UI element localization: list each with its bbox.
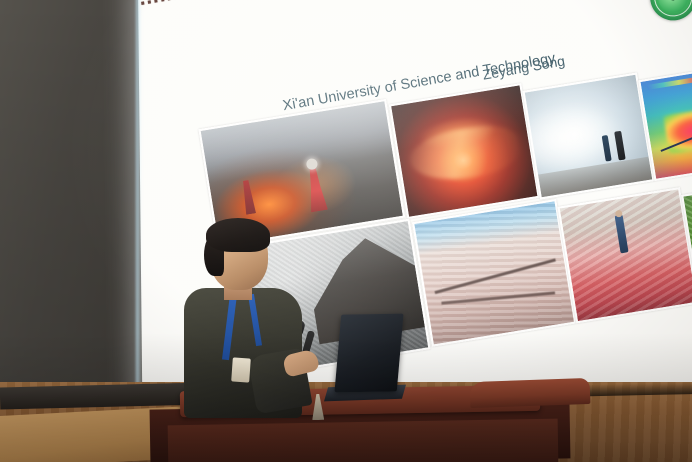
thermal-colorbar [647, 77, 692, 90]
photo-texture [560, 189, 692, 321]
slide-title: …ersistent coal fire using …me series da… [150, 0, 691, 11]
photo-burnt-red-rock [557, 187, 692, 323]
university-seal-logo: ✺ [647, 0, 692, 24]
photo-ground-strip [538, 156, 652, 197]
laptop-screen [334, 314, 403, 393]
photo-fissure-2 [442, 292, 555, 305]
slide-title-line-2: …me series data from 1986 to 2020 [138, 0, 690, 14]
photo-person-blue [602, 135, 612, 162]
wall-shading [0, 0, 152, 405]
photo-smoke-layer [201, 101, 393, 183]
photo-surveyor [614, 215, 628, 254]
photo-smoke-vents [522, 72, 654, 199]
photo-fissure-1 [434, 259, 555, 295]
thermal-road-line [661, 118, 692, 151]
photo-glowing-coal-seam [389, 83, 540, 219]
photo-figure-left [239, 179, 257, 215]
photo-texture [414, 201, 574, 344]
photo-surveyor-head [615, 210, 623, 218]
photo-lava-like-flow [407, 120, 523, 186]
photo-steam-plume [522, 97, 626, 175]
presenter-name-badge [231, 357, 251, 382]
presenter-hair [206, 218, 270, 252]
presenter [176, 218, 316, 418]
screenshot-root: …ersistent coal fire using …me series da… [0, 0, 692, 462]
seal-glyph: ✺ [647, 0, 692, 24]
photo-figure-head [306, 158, 319, 171]
podium-top-right [470, 378, 591, 408]
screen-edge-glow [136, 0, 141, 410]
photo-ember-glow [415, 112, 499, 154]
photo-cracked-ground [412, 199, 576, 347]
podium-front-panel [168, 419, 559, 462]
thermal-hotspot [663, 106, 692, 155]
photo-person-dark [614, 131, 626, 161]
photo-figure-red-dress [304, 164, 328, 212]
